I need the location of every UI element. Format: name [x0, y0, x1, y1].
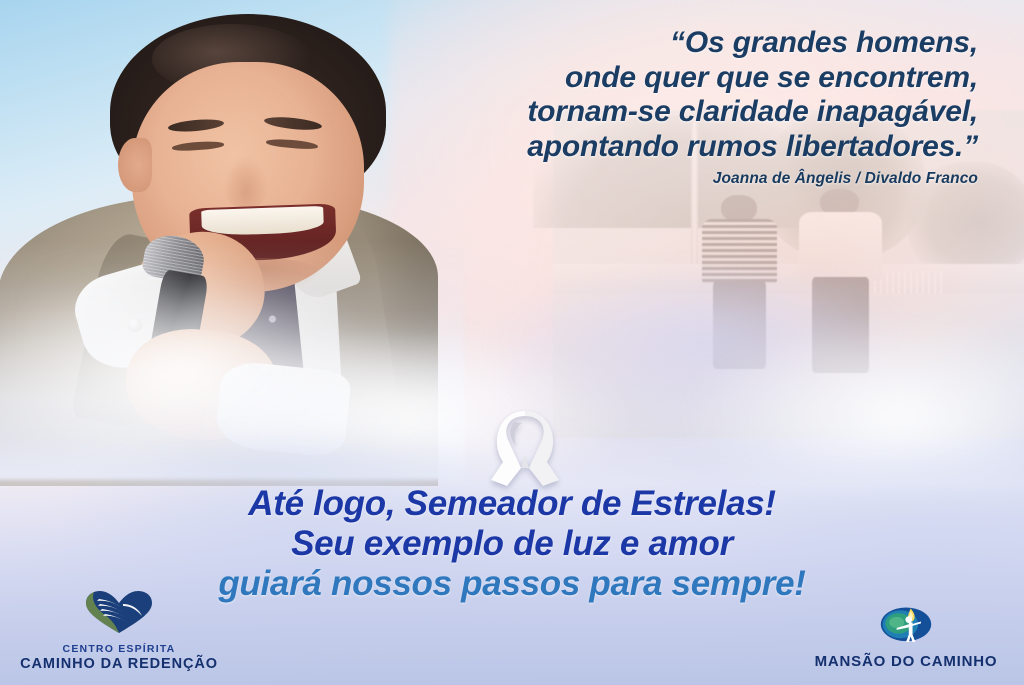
ear	[118, 138, 152, 192]
logo-right-line-1: MANSÃO DO CAMINHO	[796, 653, 1016, 671]
logo-centro-espirita-caminho-da-redencao[interactable]: CENTRO ESPÍRITA CAMINHO DA REDENÇÃO	[12, 590, 226, 673]
quote-text: “Os grandes homens, onde quer que se enc…	[358, 26, 978, 164]
quote-line-1: “Os grandes homens,	[358, 26, 978, 61]
quote-line-3: tornam-se claridade inapagável,	[358, 95, 978, 130]
teeth	[201, 206, 324, 236]
headline-line-2: Seu exemplo de luz e amor	[0, 524, 1024, 564]
quote-line-2: onde quer que se encontrem,	[358, 61, 978, 96]
quote-line-4: apontando rumos libertadores.”	[358, 130, 978, 165]
nose	[224, 156, 268, 208]
quote-attribution: Joanna de Ângelis / Divaldo Franco	[358, 170, 978, 188]
logo-mansao-do-caminho[interactable]: MANSÃO DO CAMINHO	[796, 599, 1016, 671]
headline: Até logo, Semeador de Estrelas! Seu exem…	[0, 484, 1024, 604]
logo-left-line-1: CENTRO ESPÍRITA	[12, 643, 226, 656]
heart-with-hands-icon	[12, 590, 226, 639]
white-ribbon-icon	[477, 406, 573, 490]
headline-line-1: Até logo, Semeador de Estrelas!	[0, 484, 1024, 524]
memorial-poster: “Os grandes homens, onde quer que se enc…	[0, 0, 1024, 685]
globe-with-figure-and-flame-icon	[796, 599, 1016, 649]
logo-left-line-2: CAMINHO DA REDENÇÃO	[12, 656, 226, 673]
